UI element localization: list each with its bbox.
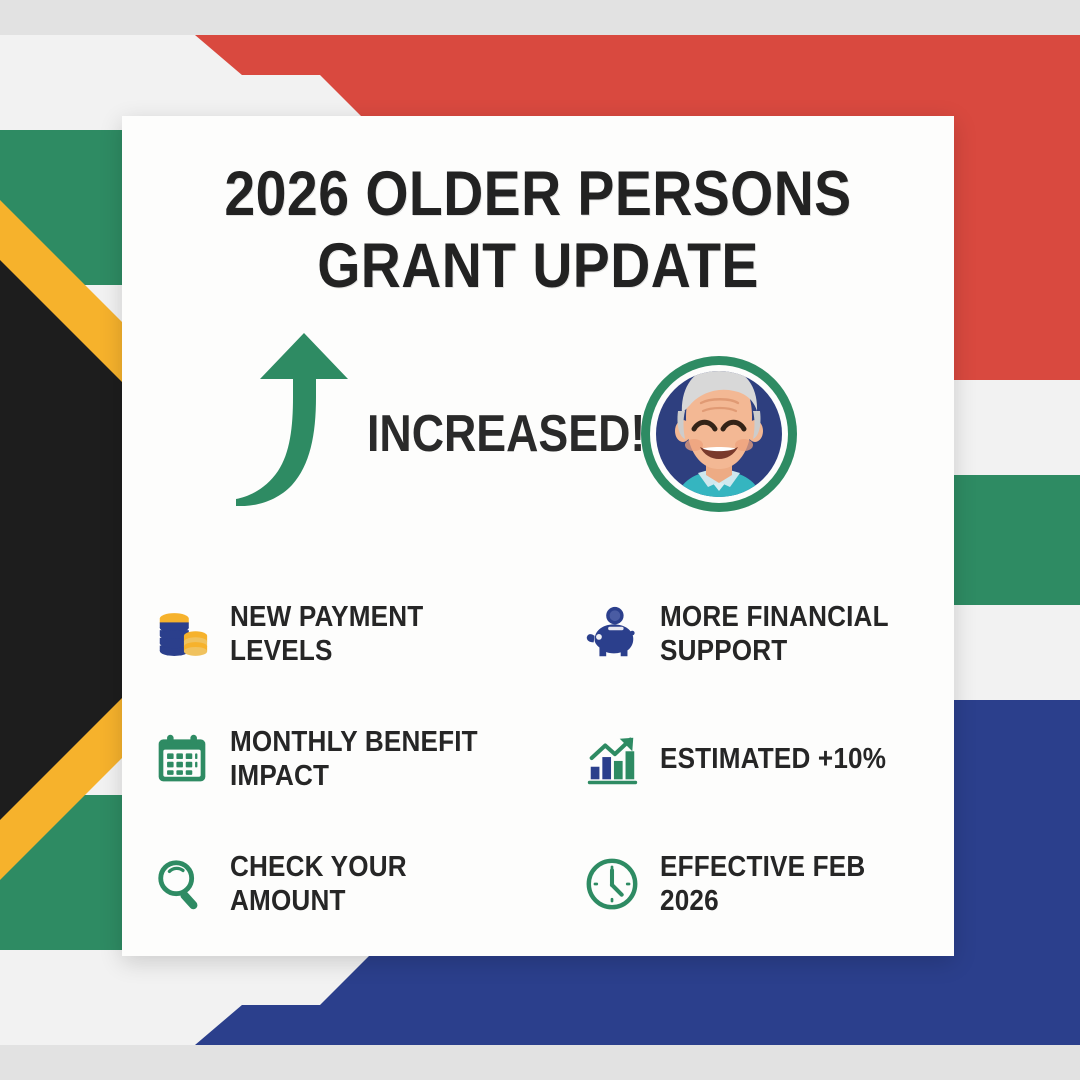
feature-label-line2: SUPPORT	[660, 634, 889, 668]
upward-curved-arrow-icon	[230, 331, 380, 506]
feature-label-line2: IMPACT	[230, 759, 478, 793]
title-line-2: GRANT UPDATE	[172, 230, 904, 302]
bar-chart-growth-icon	[582, 729, 642, 789]
feature-label-line1: EFFECTIVE FEB 2026	[660, 851, 865, 917]
elderly-person-avatar-icon	[638, 353, 800, 515]
feature-item-effective-date: EFFECTIVE FEB 2026	[582, 821, 942, 946]
clock-icon	[582, 854, 642, 914]
feature-label-line1: ESTIMATED +10%	[660, 743, 886, 775]
feature-item-more-financial-support: MORE FINANCIAL SUPPORT	[582, 571, 942, 696]
content-card: 2026 OLDER PERSONS GRANT UPDATE INCREASE…	[122, 116, 954, 956]
feature-label-line1: CHECK YOUR AMOUNT	[230, 851, 407, 917]
feature-label: NEW PAYMENT LEVELS	[230, 600, 527, 668]
stacked-coins-icon	[152, 604, 212, 664]
calendar-icon	[152, 729, 212, 789]
feature-item-new-payment-levels: NEW PAYMENT LEVELS	[152, 571, 582, 696]
feature-label: EFFECTIVE FEB 2026	[660, 850, 914, 918]
page-title: 2026 OLDER PERSONS GRANT UPDATE	[122, 158, 954, 302]
feature-label: MORE FINANCIAL SUPPORT	[660, 600, 889, 668]
feature-label: ESTIMATED +10%	[660, 742, 886, 776]
feature-label: MONTHLY BENEFIT IMPACT	[230, 725, 478, 793]
feature-label-line1: MONTHLY BENEFIT	[230, 726, 478, 758]
feature-item-estimated-increase: ESTIMATED +10%	[582, 696, 942, 821]
feature-label-line1: MORE FINANCIAL	[660, 601, 889, 633]
piggy-bank-icon	[582, 604, 642, 664]
feature-grid: NEW PAYMENT LEVELS	[152, 571, 942, 946]
hero-section: INCREASED!	[122, 331, 954, 531]
title-line-1: 2026 OLDER PERSONS	[172, 158, 904, 230]
feature-label: CHECK YOUR AMOUNT	[230, 850, 527, 918]
poster-root: 2026 OLDER PERSONS GRANT UPDATE INCREASE…	[0, 0, 1080, 1080]
feature-item-monthly-benefit-impact: MONTHLY BENEFIT IMPACT	[152, 696, 582, 821]
feature-label-line1: NEW PAYMENT LEVELS	[230, 601, 423, 667]
feature-item-check-your-amount: CHECK YOUR AMOUNT	[152, 821, 582, 946]
magnifying-glass-icon	[152, 854, 212, 914]
increased-badge-text: INCREASED!	[367, 407, 645, 461]
